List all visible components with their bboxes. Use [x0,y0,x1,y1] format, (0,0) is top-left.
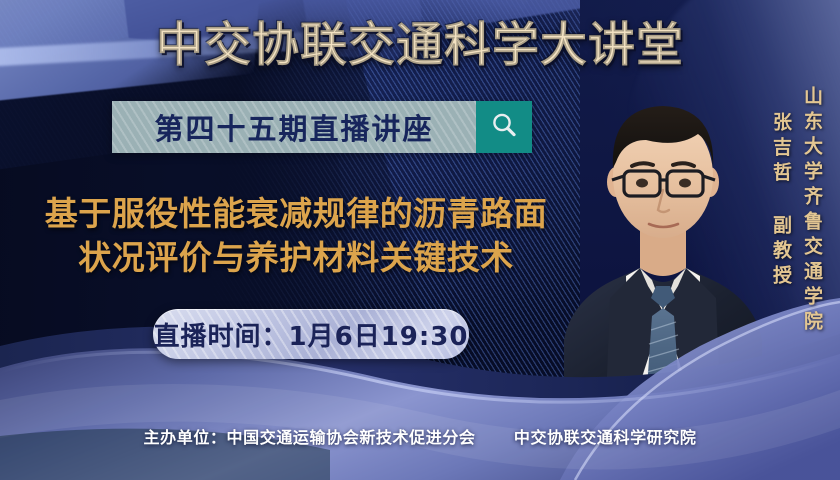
episode-label-field[interactable]: 第四十五期直播讲座 [112,101,476,153]
footer-organizers: 主办单位：中国交通运输协会新技术促进分会 中交协联交通科学研究院 [0,424,840,448]
speaker-name-title: 张吉哲 副教授 [768,86,793,290]
page-title: 中交协联交通科学大讲堂 [0,18,840,74]
episode-search-bar[interactable]: 第四十五期直播讲座 [112,101,532,153]
speaker-affiliation: 山东大学齐鲁交通学院 [799,86,824,336]
footer-organizer-primary: 主办单位：中国交通运输协会新技术促进分会 [144,428,476,447]
search-button[interactable] [476,101,532,153]
broadcast-time-badge: 直播时间：1月6日19:30 [153,309,469,359]
episode-label: 第四十五期直播讲座 [154,106,433,148]
search-icon [489,110,519,145]
lecture-title-line-1: 基于服役性能衰减规律的沥青路面 [16,192,576,236]
lecture-title: 基于服役性能衰减规律的沥青路面 状况评价与养护材料关键技术 [16,192,576,280]
lecture-title-line-2: 状况评价与养护材料关键技术 [16,236,576,280]
broadcast-time-label: 直播时间：1月6日19:30 [154,316,469,353]
speaker-info: 张吉哲 副教授 山东大学齐鲁交通学院 [768,86,824,336]
live-lecture-poster: 中交协联交通科学大讲堂 第四十五期直播讲座 基于服役性能衰减规律的沥青路面 状况… [0,0,840,480]
footer-organizer-secondary: 中交协联交通科学研究院 [514,428,697,447]
